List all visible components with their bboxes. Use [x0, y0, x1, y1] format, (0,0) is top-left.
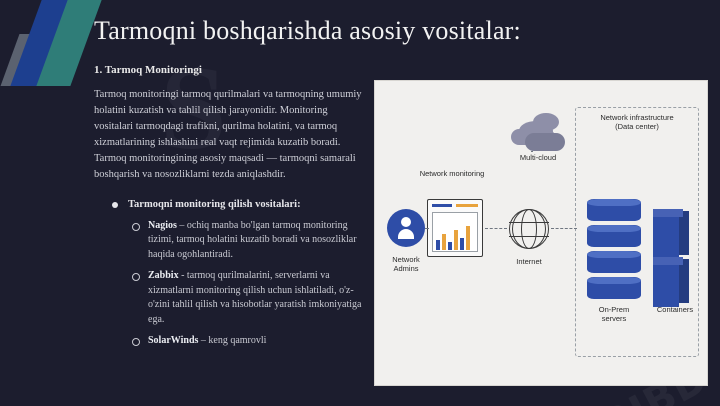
internet-globe-icon [509, 209, 549, 249]
slide: S SCRIBD Tarmoqni boshqarishda asosiy vo… [0, 0, 720, 406]
label-on-prem-servers: On-Prem servers [581, 305, 647, 324]
page-title: Tarmoqni boshqarishda asosiy vositalar: [94, 16, 521, 46]
list-item-sep: – [198, 335, 208, 346]
section-heading: 1. Tarmoq Monitoringi [94, 64, 362, 76]
label-internet: Internet [493, 257, 565, 266]
connector-line [425, 228, 429, 229]
monitoring-dashboard-icon [427, 199, 483, 257]
list-item-term: SolarWinds [148, 335, 198, 346]
decorative-corner-shapes [0, 0, 95, 110]
sub-bullet-list: Nagios – ochiq manba bo'lgan tarmoq moni… [112, 219, 362, 349]
list-item-term: Zabbix [148, 270, 179, 281]
network-admins-avatar [387, 209, 425, 247]
list-item-term: Nagios [148, 220, 177, 231]
containers-icon [653, 201, 693, 301]
list-item: Nagios – ochiq manba bo'lgan tarmoq moni… [132, 219, 362, 263]
bullet-main: Tarmoqni monitoring qilish vositalari: [112, 197, 362, 212]
label-network-monitoring: Network monitoring [397, 169, 507, 178]
label-multi-cloud: Multi-cloud [503, 153, 573, 162]
list-item: SolarWinds – keng qamrovli [132, 334, 362, 349]
label-containers: Containers [647, 305, 703, 314]
label-network-admins: Network Admins [377, 255, 435, 274]
connector-line [485, 228, 507, 229]
bullet-list: Tarmoqni monitoring qilish vositalari: N… [94, 197, 362, 349]
list-item-sep: – [177, 220, 187, 231]
network-diagram-image: Multi-cloud Network infrastructure (Data… [374, 80, 708, 386]
list-item-sep: - [179, 270, 187, 281]
list-item: Zabbix - tarmoq qurilmalarini, serverlar… [132, 269, 362, 327]
body-paragraph: Tarmoq monitoringi tarmoq qurilmalari va… [94, 87, 362, 183]
content-column: 1. Tarmoq Monitoringi Tarmoq monitoringi… [94, 64, 362, 356]
list-item-text: keng qamrovli [208, 335, 266, 346]
label-network-infrastructure: Network infrastructure (Data center) [581, 113, 693, 132]
connector-line [531, 151, 533, 152]
connector-line [551, 228, 577, 229]
